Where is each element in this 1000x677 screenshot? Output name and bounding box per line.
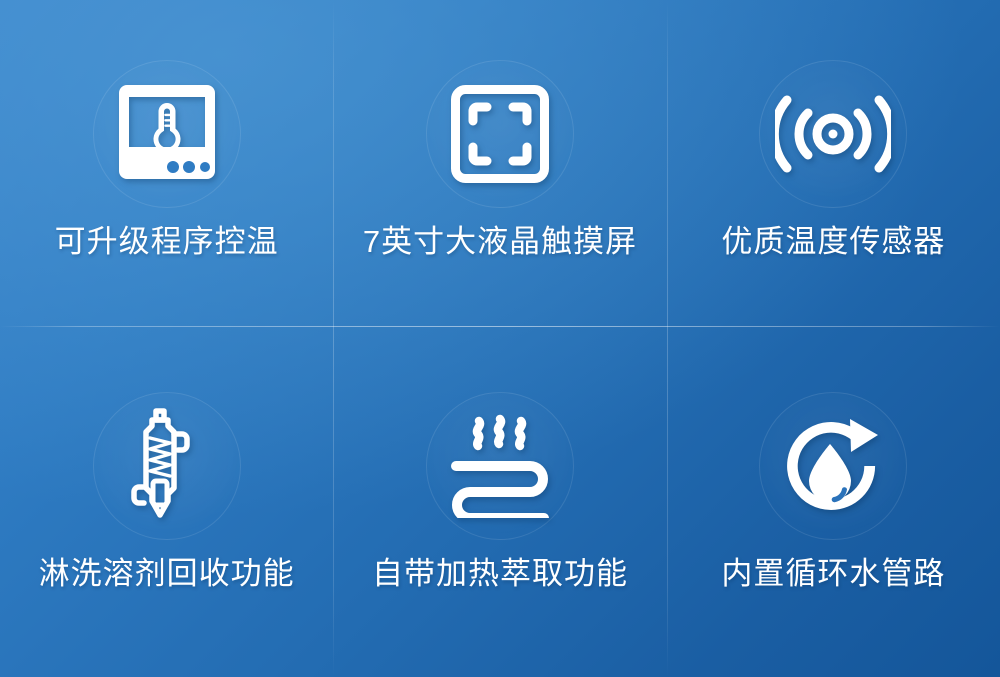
icon-halo xyxy=(759,392,907,540)
icon-halo xyxy=(426,392,574,540)
feature-label: 淋洗溶剂回收功能 xyxy=(39,558,295,589)
feature-label: 7英寸大液晶触摸屏 xyxy=(363,226,637,257)
icon-halo xyxy=(93,392,241,540)
feature-cell-touchscreen[interactable]: 7英寸大液晶触摸屏 xyxy=(333,0,666,339)
icon-halo xyxy=(426,60,574,208)
features-grid: 可升级程序控温 7英寸大液晶触摸屏 xyxy=(0,0,1000,677)
icon-halo xyxy=(759,60,907,208)
feature-cell-water-circulation[interactable]: 内置循环水管路 xyxy=(667,339,1000,677)
monitor-thermometer-icon xyxy=(113,85,221,183)
feature-label: 内置循环水管路 xyxy=(721,558,945,589)
feature-label: 可升级程序控温 xyxy=(55,226,279,257)
heating-element-icon xyxy=(447,414,553,518)
water-recycle-icon xyxy=(778,413,888,519)
condenser-coil-icon xyxy=(130,407,204,525)
feature-cell-temp-sensor[interactable]: 优质温度传感器 xyxy=(667,0,1000,339)
feature-label: 自带加热萃取功能 xyxy=(372,558,628,589)
sensor-signal-icon xyxy=(775,92,891,176)
feature-cell-program-temp-control[interactable]: 可升级程序控温 xyxy=(0,0,333,339)
icon-halo xyxy=(93,60,241,208)
screen-frame-icon xyxy=(450,84,550,184)
feature-label: 优质温度传感器 xyxy=(721,226,945,257)
feature-cell-heated-extraction[interactable]: 自带加热萃取功能 xyxy=(333,339,666,677)
feature-grid-banner: 可升级程序控温 7英寸大液晶触摸屏 xyxy=(0,0,1000,677)
feature-cell-solvent-recovery[interactable]: 淋洗溶剂回收功能 xyxy=(0,339,333,677)
